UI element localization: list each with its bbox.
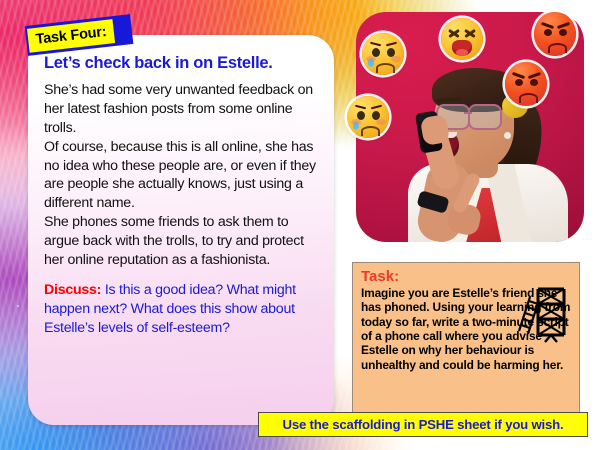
task-instruction-box: Task: Imagine you are Estelle’s friend s… [352,262,580,416]
discuss-label: Discuss: [44,282,101,298]
story-paragraph-3: She phones some friends to ask them to a… [44,213,320,270]
story-paragraph-1: She’s had some very unwanted feedback on… [44,81,320,138]
task-four-tag-label: Task Four: [35,24,107,48]
photo-glasses-right-lens [468,104,502,130]
story-paragraph-2: Of course, because this is all online, s… [44,138,320,214]
story-card: Let’s check back in on Estelle. She’s ha… [28,35,334,425]
laughing-squint-face-emoji [441,18,483,60]
scaffolding-hint-banner: Use the scaffolding in PSHE sheet if you… [258,412,588,437]
angry-face-emoji [534,12,576,56]
discuss-block: Discuss: Is this a good idea? What might… [44,281,320,338]
story-heading: Let’s check back in on Estelle. [44,54,320,73]
pleading-sad-face-emoji [347,96,389,138]
pleading-sad-face-emoji [362,33,404,75]
photo-glasses-bridge [464,112,472,114]
angry-face-emoji [505,62,547,106]
scaffolding-hint-text: Use the scaffolding in PSHE sheet if you… [283,417,564,432]
task-box-heading: Task: [361,269,572,285]
story-body: She’s had some very unwanted feedback on… [44,81,320,270]
scaffolding-tower-icon [514,285,570,343]
slide-canvas: Task Four: Let’s check back in on Estell… [0,0,600,450]
photo-earring [504,132,511,139]
